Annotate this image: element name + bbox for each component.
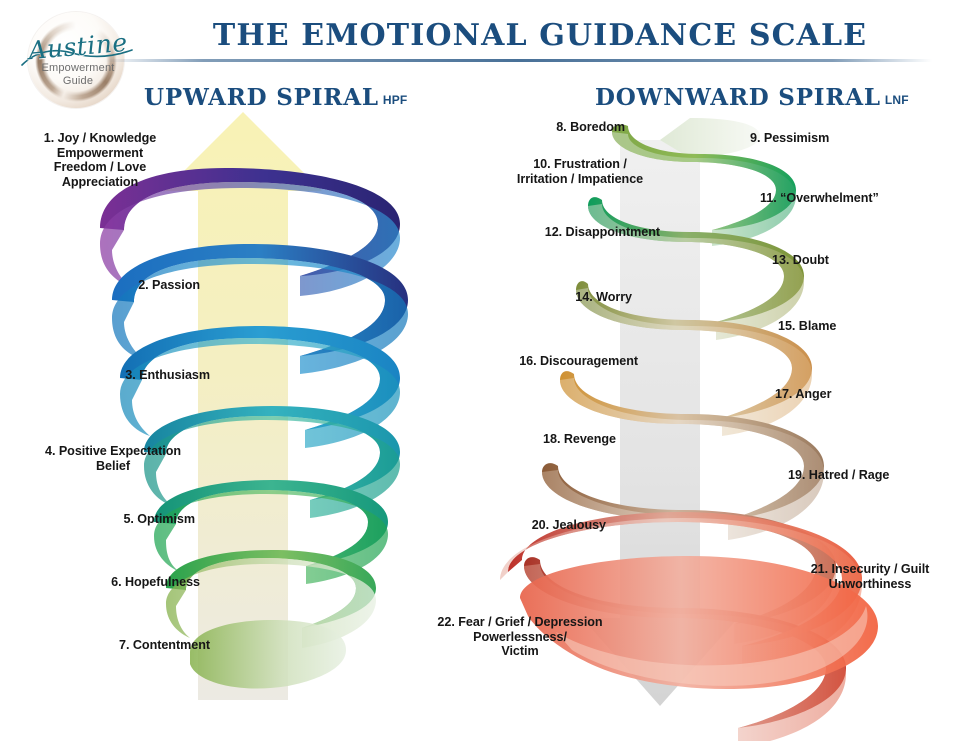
- label-4-positive-expectation[interactable]: 4. Positive Expectation Belief: [28, 444, 198, 473]
- infographic-page: Austine Empowerment Guide THE EMOTIONAL …: [0, 0, 960, 741]
- downward-spiral-tag: LNF: [885, 93, 909, 107]
- label-19-hatred-rage[interactable]: 19. Hatred / Rage: [788, 468, 948, 483]
- label-16-discouragement[interactable]: 16. Discouragement: [480, 354, 638, 369]
- logo-tagline-line2: Guide: [24, 75, 132, 88]
- label-22-fear-grief-depression[interactable]: 22. Fear / Grief / Depression Powerlessn…: [420, 615, 620, 659]
- upward-spiral-tag: HPF: [383, 93, 408, 107]
- upward-spiral-heading-text: UPWARD SPIRAL: [144, 84, 379, 111]
- label-3-enthusiasm[interactable]: 3. Enthusiasm: [50, 368, 210, 383]
- label-14-worry[interactable]: 14. Worry: [500, 290, 632, 305]
- label-15-blame[interactable]: 15. Blame: [778, 319, 908, 334]
- label-20-jealousy[interactable]: 20. Jealousy: [470, 518, 606, 533]
- logo-tagline: Empowerment Guide: [24, 62, 132, 87]
- page-title: THE EMOTIONAL GUIDANCE SCALE: [140, 18, 940, 53]
- label-13-doubt[interactable]: 13. Doubt: [772, 253, 902, 268]
- label-7-contentment[interactable]: 7. Contentment: [45, 638, 210, 653]
- up-arrow-icon: [164, 112, 322, 700]
- downward-spiral-heading: DOWNWARD SPIRALLNF: [595, 84, 909, 111]
- label-12-disappointment[interactable]: 12. Disappointment: [480, 225, 660, 240]
- label-5-optimism[interactable]: 5. Optimism: [55, 512, 195, 527]
- label-1-joy-knowledge[interactable]: 1. Joy / Knowledge Empowerment Freedom /…: [30, 131, 170, 189]
- upward-spiral-ribbon: [100, 168, 408, 689]
- logo-tagline-line1: Empowerment: [24, 62, 132, 75]
- downward-spiral-heading-text: DOWNWARD SPIRAL: [595, 84, 881, 111]
- label-11-overwhelment[interactable]: 11. “Overwhelment”: [760, 191, 935, 206]
- label-9-pessimism[interactable]: 9. Pessimism: [750, 131, 900, 146]
- upward-spiral-heading: UPWARD SPIRALHPF: [144, 84, 407, 111]
- label-2-passion[interactable]: 2. Passion: [60, 278, 200, 293]
- label-8-boredom[interactable]: 8. Boredom: [485, 120, 625, 135]
- label-17-anger[interactable]: 17. Anger: [775, 387, 905, 402]
- title-divider: [104, 59, 932, 62]
- label-10-frustration[interactable]: 10. Frustration / Irritation / Impatienc…: [490, 157, 670, 186]
- label-18-revenge[interactable]: 18. Revenge: [480, 432, 616, 447]
- label-6-hopefulness[interactable]: 6. Hopefulness: [40, 575, 200, 590]
- label-21-insecurity-guilt[interactable]: 21. Insecurity / Guilt Unworthiness: [790, 562, 950, 591]
